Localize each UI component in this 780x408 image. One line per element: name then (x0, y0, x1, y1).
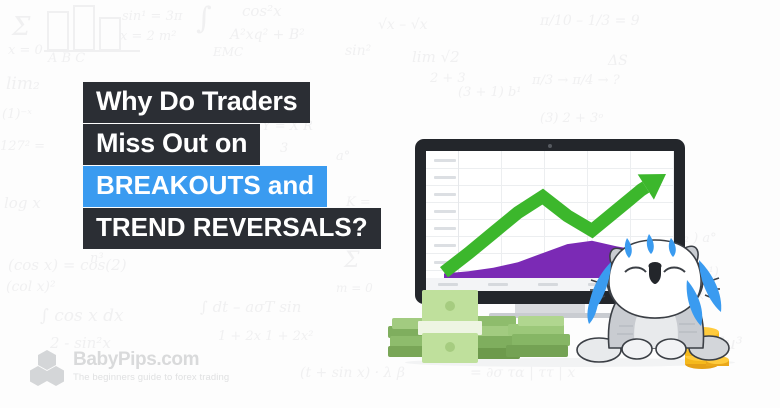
math-formula: Σ (344, 250, 360, 272)
hexagon-cluster-icon (30, 350, 64, 386)
math-formula: 127² = (0, 140, 45, 153)
math-formula: 1 + 2x 1 + 2x² (218, 330, 313, 343)
math-formula: 2 + 3 (430, 72, 466, 85)
math-formula: sin² (345, 44, 371, 58)
babypips-logo[interactable]: BabyPips.com The beginners guide to fore… (30, 350, 229, 386)
math-formula: cos²x (242, 4, 282, 19)
math-formula: x = 2 m² (120, 30, 176, 43)
webcam-dot-icon (548, 144, 552, 148)
math-formula: m = 0 (336, 282, 373, 294)
math-formula: EMC (213, 46, 243, 58)
math-formula: ∫ (196, 4, 212, 34)
math-formula: ΔS (608, 54, 628, 68)
math-formula: lim₂ (6, 76, 40, 93)
math-formula: √x – √x (378, 18, 428, 32)
cash-stack (388, 288, 573, 366)
math-formula: (col x)² (6, 280, 56, 294)
math-formula: n³ (90, 252, 104, 265)
headline: Why Do Traders Miss Out on BREAKOUTS and… (83, 82, 413, 250)
math-formula: Σ (12, 14, 30, 40)
math-formula: log x (4, 196, 41, 211)
math-formula: (3 + 1) b¹ (458, 86, 522, 99)
math-formula: π/10 – 1/3 = 9 (540, 14, 640, 28)
math-formula: (3) 2 + 3ᵒ (540, 112, 603, 125)
math-formula: x = 0 (8, 44, 43, 57)
math-formula: (cos x) = cos(2) (8, 258, 127, 273)
headline-line-1: Why Do Traders (83, 82, 310, 123)
headline-line-3: BREAKOUTS and (83, 166, 327, 207)
math-formula: ∫ dt – aσT sin (200, 300, 301, 315)
logo-name: BabyPips.com (73, 350, 229, 370)
math-formula: sin¹ = 3π (122, 10, 182, 23)
math-bar-doodle (44, 4, 134, 52)
math-formula: A²xq² + B² (230, 28, 305, 42)
banner-canvas: Σx = 0A B Clim₂(1)⁻ˣ127² =log x(cos x) =… (0, 0, 780, 408)
math-formula: ∫ cos x dx (40, 308, 124, 325)
logo-tagline: The beginners guide to forex trading (73, 371, 229, 385)
headline-line-4: TREND REVERSALS? (83, 208, 381, 249)
math-formula: π/3 → π/4 → ? (532, 74, 620, 87)
math-formula: (1)⁻ˣ (2, 108, 32, 121)
math-formula: A B C (48, 52, 85, 65)
math-formula: (t + sin x) · λ β (300, 366, 405, 380)
math-formula: = ∂σ τα | ττ | x (470, 366, 575, 380)
math-formula: lim √2 (412, 50, 460, 65)
crying-pip-dog (575, 232, 735, 372)
headline-line-2: Miss Out on (83, 124, 260, 165)
